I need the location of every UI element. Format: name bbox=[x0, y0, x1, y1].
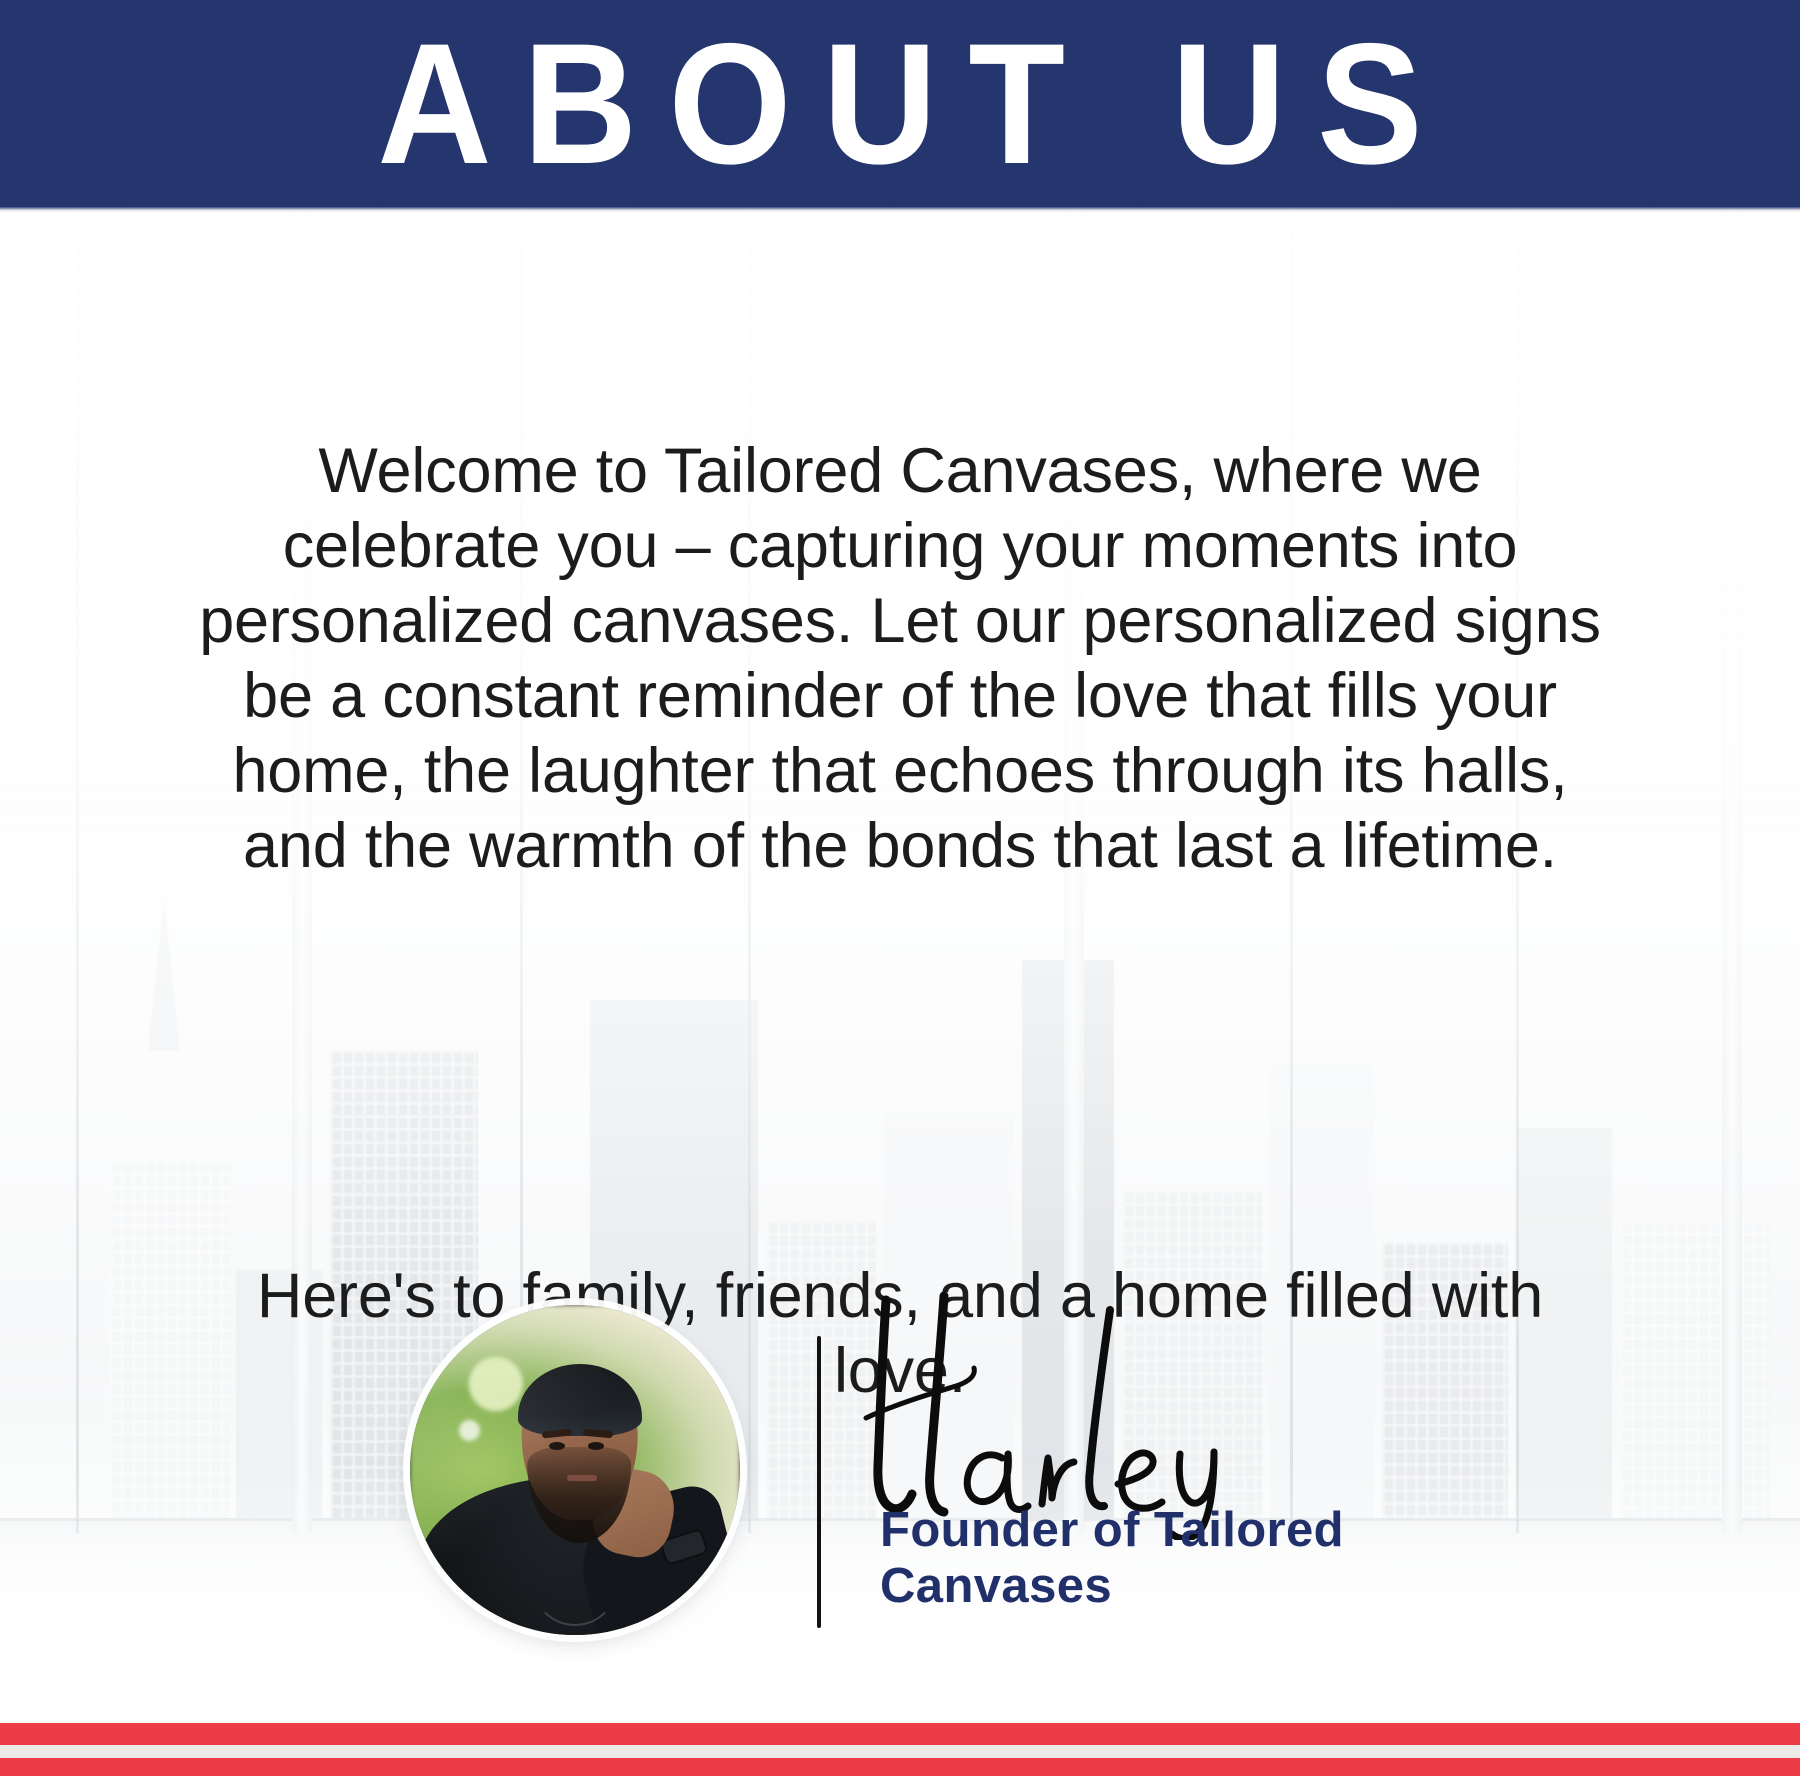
founder-line-2: Canvases bbox=[880, 1558, 1440, 1614]
window-mullion bbox=[1722, 213, 1742, 1533]
header-bottom-rule bbox=[0, 207, 1800, 213]
about-us-copy: Welcome to Tailored Canvases, where we c… bbox=[190, 284, 1610, 1559]
founder-photo bbox=[410, 1305, 740, 1635]
photo-gloss bbox=[410, 1305, 740, 1635]
page-title: ABOUT US bbox=[72, 0, 1728, 207]
about-paragraph-2: Here's to family, friends, and a home fi… bbox=[190, 1259, 1610, 1409]
skyline-spire bbox=[148, 900, 180, 1050]
about-paragraph-1: Welcome to Tailored Canvases, where we c… bbox=[190, 434, 1610, 884]
founder-caption: Founder of Tailored Canvases bbox=[880, 1502, 1440, 1614]
footer-bar-bottom bbox=[0, 1758, 1800, 1776]
founder-line-1: Founder of Tailored bbox=[880, 1502, 1440, 1558]
paragraph-spacer bbox=[190, 1034, 1610, 1109]
signature-divider bbox=[817, 1336, 821, 1628]
avatar bbox=[410, 1305, 740, 1635]
footer-bar-top bbox=[0, 1723, 1800, 1745]
footer-bar-gap bbox=[0, 1745, 1800, 1758]
skyline-building bbox=[1620, 1220, 1770, 1520]
window-mullion bbox=[76, 213, 79, 1533]
about-us-page: ABOUT US Welcome to Tailored Canvases, w… bbox=[0, 0, 1800, 1776]
